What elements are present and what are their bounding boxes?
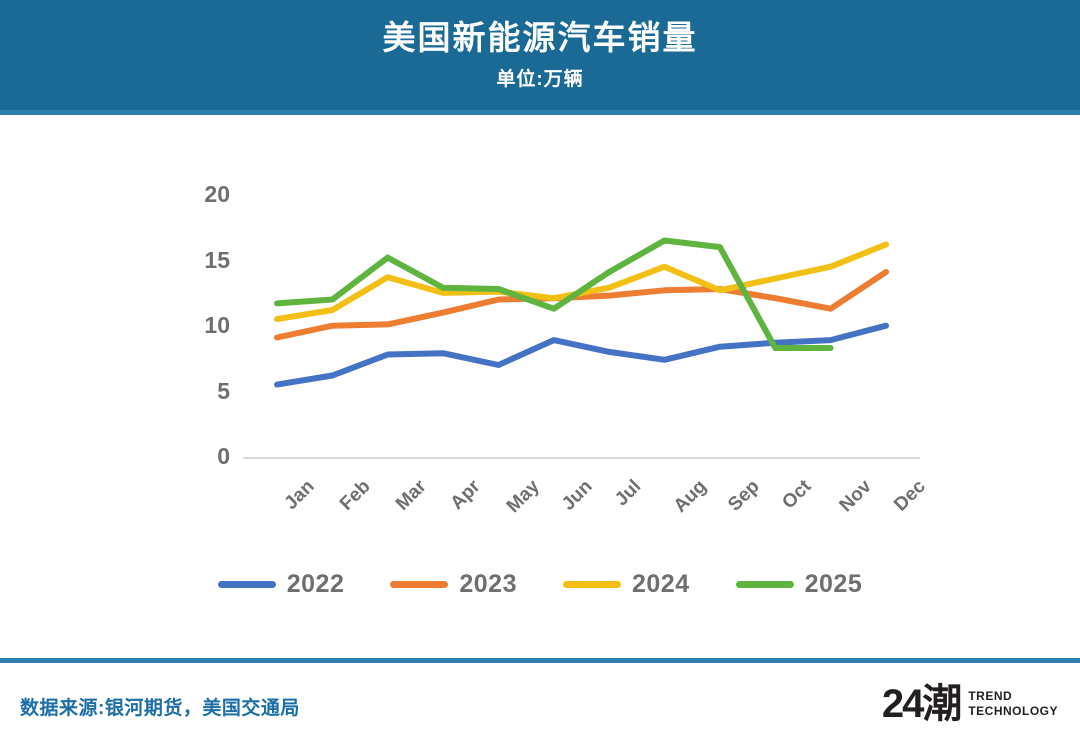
chart-container: 20151050 JanFebMarAprMayJunJulAugSepOctN… — [0, 115, 1080, 635]
y-tick-label: 15 — [178, 247, 230, 274]
legend-label: 2022 — [287, 570, 345, 599]
legend-swatch-icon — [390, 581, 448, 588]
header-banner: 美国新能源汽车销量 单位:万辆 — [0, 0, 1080, 110]
legend-label: 2024 — [632, 570, 690, 599]
line-plot — [0, 115, 1080, 575]
legend-swatch-icon — [218, 581, 276, 588]
logo-line-1: TREND — [968, 689, 1058, 704]
logo-wordmark: TREND TECHNOLOGY — [968, 689, 1058, 719]
plot-svg — [0, 115, 1080, 575]
logo-line-2: TECHNOLOGY — [968, 704, 1058, 719]
legend-item-2024[interactable]: 2024 — [563, 570, 690, 599]
legend-label: 2023 — [459, 570, 517, 599]
legend-item-2022[interactable]: 2022 — [218, 570, 345, 599]
page-subtitle: 单位:万辆 — [496, 64, 583, 91]
slide-root: 美国新能源汽车销量 单位:万辆 20151050 JanFebMarAprMay… — [0, 0, 1080, 752]
data-source-text: 数据来源:银河期货，美国交通局 — [20, 693, 300, 720]
brand-logo: 24潮 TREND TECHNOLOGY — [882, 685, 1058, 723]
chart-legend: 2022202320242025 — [0, 570, 1080, 599]
logo-mark-text: 24潮 — [882, 685, 961, 723]
y-tick-label: 0 — [178, 443, 230, 470]
y-tick-label: 5 — [178, 378, 230, 405]
legend-swatch-icon — [736, 581, 794, 588]
series-line-2022 — [277, 326, 886, 385]
page-title: 美国新能源汽车销量 — [383, 19, 698, 57]
legend-label: 2025 — [805, 570, 863, 599]
y-tick-label: 10 — [178, 312, 230, 339]
legend-item-2025[interactable]: 2025 — [736, 570, 863, 599]
footer-bar: 数据来源:银河期货，美国交通局 24潮 TREND TECHNOLOGY — [0, 663, 1080, 752]
series-line-2023 — [277, 272, 886, 338]
series-line-2024 — [277, 245, 886, 320]
legend-swatch-icon — [563, 581, 621, 588]
legend-item-2023[interactable]: 2023 — [390, 570, 517, 599]
y-tick-label: 20 — [178, 181, 230, 208]
